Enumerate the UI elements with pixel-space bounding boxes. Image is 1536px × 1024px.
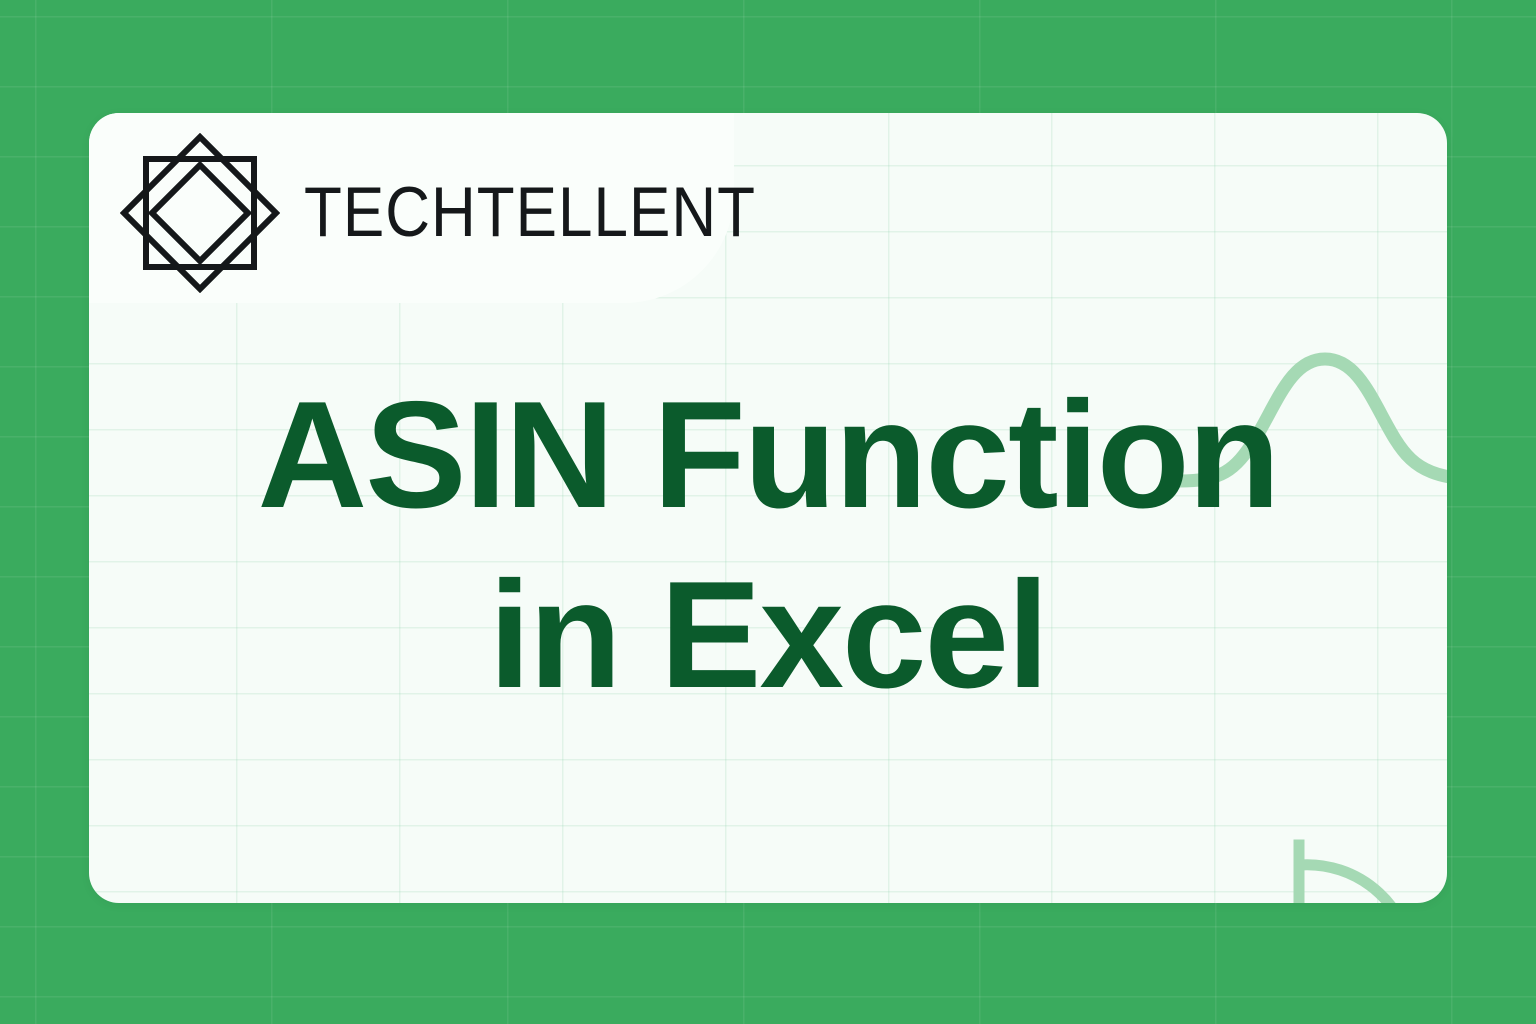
techtellent-logo-icon [120,133,280,293]
page-title-line-1: ASIN Function [89,365,1447,545]
content-card: α TECHTELLENT ASIN Function in Excel [89,113,1447,903]
alpha-symbol: α [1311,900,1342,903]
brand-wordmark: TECHTELLENT [304,178,756,249]
page-title: ASIN Function in Excel [89,365,1447,725]
thumbnail-canvas: α TECHTELLENT ASIN Function in Excel [0,0,1536,1024]
angle-icon [1287,839,1437,903]
brand-logo-lockup[interactable]: TECHTELLENT [120,133,756,293]
page-title-line-2: in Excel [89,545,1447,725]
